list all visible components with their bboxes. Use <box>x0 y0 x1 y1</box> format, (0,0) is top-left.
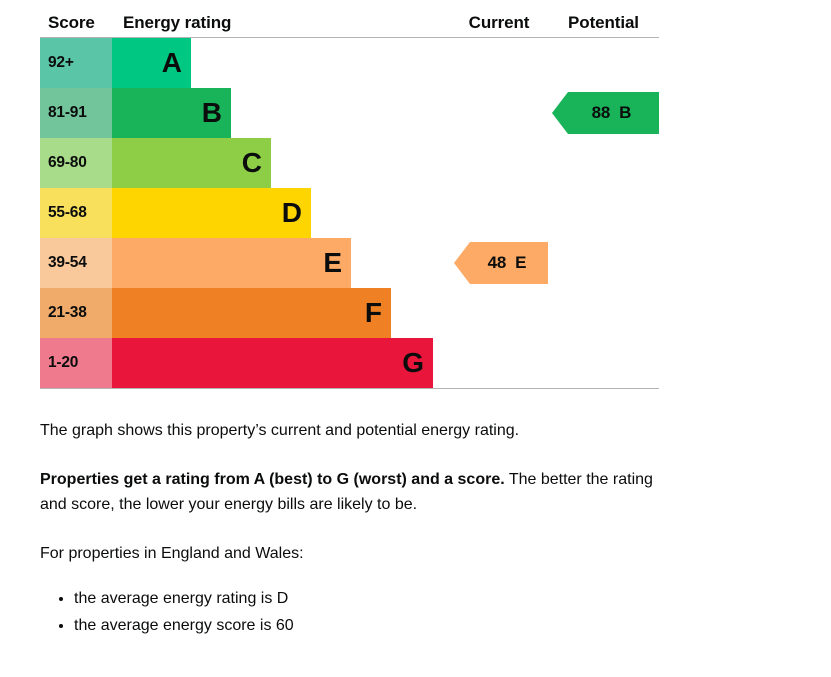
energy-band-row-c: 69-80C <box>40 138 659 188</box>
rating-letter-a: A <box>162 49 182 77</box>
copy-region-intro: For properties in England and Wales: <box>40 541 680 566</box>
average-stat-item: the average energy rating is D <box>74 586 680 611</box>
rating-bar-c: C <box>112 138 271 188</box>
potential-cell-g <box>548 338 659 389</box>
copy-intro: The graph shows this property’s current … <box>40 418 680 443</box>
average-stat-item: the average energy score is 60 <box>74 613 680 638</box>
rating-letter-b: B <box>202 99 222 127</box>
potential-cell-e <box>548 238 659 288</box>
current-cell-e: 48E <box>450 238 548 288</box>
potential-rating-badge: 88B <box>552 92 659 134</box>
rating-letter-e: E <box>323 249 342 277</box>
potential-badge-score: 88 <box>592 103 611 123</box>
potential-cell-c <box>548 138 659 188</box>
rating-bar-a: A <box>112 38 191 88</box>
rating-bar-cell-a: A <box>112 38 450 89</box>
rating-bar-cell-f: F <box>112 288 450 338</box>
current-cell-f <box>450 288 548 338</box>
energy-band-row-d: 55-68D <box>40 188 659 238</box>
rating-bar-cell-b: B <box>112 88 450 138</box>
current-cell-c <box>450 138 548 188</box>
potential-cell-a <box>548 38 659 89</box>
current-badge-band: E <box>515 253 526 273</box>
column-header-rating: Energy rating <box>112 9 450 38</box>
current-rating-badge: 48E <box>454 242 548 284</box>
energy-band-row-e: 39-54E48E <box>40 238 659 288</box>
current-cell-g <box>450 338 548 389</box>
score-range-g: 1-20 <box>40 338 112 389</box>
score-range-d: 55-68 <box>40 188 112 238</box>
energy-band-row-a: 92+A <box>40 38 659 89</box>
rating-bar-e: E <box>112 238 351 288</box>
column-header-potential: Potential <box>548 9 659 38</box>
energy-rating-table: Score Energy rating Current Potential 92… <box>40 9 659 389</box>
score-range-f: 21-38 <box>40 288 112 338</box>
energy-band-rows: 92+A81-91B88B69-80C55-68D39-54E48E21-38F… <box>40 38 659 389</box>
rating-bar-cell-d: D <box>112 188 450 238</box>
average-stats-list: the average energy rating is Dthe averag… <box>40 586 680 638</box>
copy-rating-bold: Properties get a rating from A (best) to… <box>40 471 505 488</box>
energy-band-row-g: 1-20G <box>40 338 659 389</box>
rating-bar-f: F <box>112 288 391 338</box>
rating-bar-b: B <box>112 88 231 138</box>
epc-certificate-panel: Score Energy rating Current Potential 92… <box>0 0 831 677</box>
rating-letter-c: C <box>242 149 262 177</box>
rating-bar-cell-g: G <box>112 338 450 389</box>
current-cell-d <box>450 188 548 238</box>
rating-bar-cell-e: E <box>112 238 450 288</box>
score-range-b: 81-91 <box>40 88 112 138</box>
potential-badge-band: B <box>619 103 631 123</box>
rating-letter-g: G <box>402 349 424 377</box>
score-range-e: 39-54 <box>40 238 112 288</box>
copy-rating: Properties get a rating from A (best) to… <box>40 467 680 517</box>
potential-cell-d <box>548 188 659 238</box>
rating-bar-g: G <box>112 338 433 388</box>
potential-cell-b: 88B <box>548 88 659 138</box>
column-header-score: Score <box>40 9 112 38</box>
rating-bar-d: D <box>112 188 311 238</box>
score-range-c: 69-80 <box>40 138 112 188</box>
current-cell-a <box>450 38 548 89</box>
rating-bar-cell-c: C <box>112 138 450 188</box>
score-range-a: 92+ <box>40 38 112 89</box>
table-header-row: Score Energy rating Current Potential <box>40 9 659 38</box>
explanatory-copy: The graph shows this property’s current … <box>40 418 680 640</box>
potential-cell-f <box>548 288 659 338</box>
rating-letter-d: D <box>282 199 302 227</box>
current-cell-b <box>450 88 548 138</box>
current-badge-score: 48 <box>488 253 507 273</box>
column-header-current: Current <box>450 9 548 38</box>
energy-band-row-f: 21-38F <box>40 288 659 338</box>
energy-band-row-b: 81-91B88B <box>40 88 659 138</box>
rating-letter-f: F <box>365 299 382 327</box>
